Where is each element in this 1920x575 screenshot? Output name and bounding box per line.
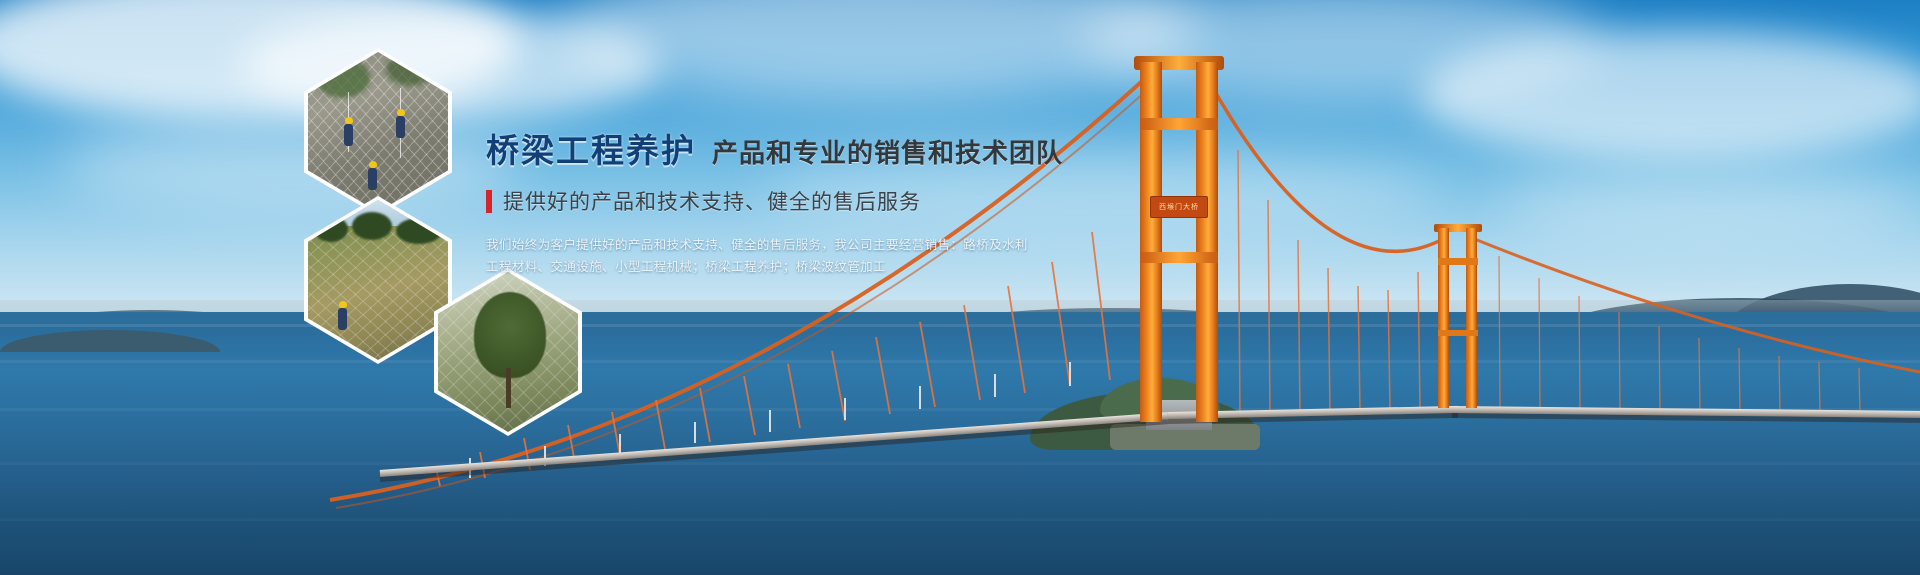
worker: [338, 308, 347, 330]
banner-body-text: 我们始终为客户提供好的产品和技术支持、健全的售后服务，我公司主要经营销售：路桥及…: [486, 234, 1086, 278]
red-accent-bar-icon: [486, 190, 492, 213]
subline-text: 提供好的产品和技术支持、健全的售后服务: [503, 186, 921, 216]
headline: 桥梁工程养护 产品和专业的销售和技术团队: [486, 124, 1126, 172]
subline: 提供好的产品和技术支持、健全的售后服务: [486, 186, 1126, 216]
bridge-cables: [0, 0, 1920, 575]
body-line-2: 工程材料、交通设施、小型工程机械；桥梁工程养护；桥梁波纹管加工: [486, 256, 1086, 278]
body-line-1: 我们始终为客户提供好的产品和技术支持、健全的售后服务，我公司主要经营销售：路桥及…: [486, 234, 1086, 256]
tower-crossbeam: [1140, 252, 1218, 263]
shrub: [474, 292, 546, 378]
tower-crossbeam: [1438, 330, 1478, 336]
suspension-bridge: 西堠门大桥: [0, 0, 1920, 575]
headline-sub: 产品和专业的销售和技术团队: [712, 133, 1063, 170]
tree: [352, 212, 392, 240]
hero-banner: 西堠门大桥: [0, 0, 1920, 575]
bridge-tower-leg: [1466, 228, 1477, 408]
bridge-tower-leg: [1438, 228, 1449, 408]
bridge-tower-leg: [1140, 62, 1162, 422]
tower-plaque: 西堠门大桥: [1150, 196, 1208, 218]
tree-trunk: [506, 368, 511, 408]
headline-main: 桥梁工程养护: [486, 124, 696, 172]
tower-crossbeam: [1438, 258, 1478, 265]
tower-crossbeam: [1140, 118, 1218, 130]
banner-text-block: 桥梁工程养护 产品和专业的销售和技术团队 提供好的产品和技术支持、健全的售后服务…: [486, 124, 1126, 278]
bridge-tower-leg: [1196, 62, 1218, 422]
worker: [344, 124, 353, 146]
tower-plaque-text: 西堠门大桥: [1151, 197, 1207, 219]
worker: [396, 116, 405, 138]
worker: [368, 168, 377, 190]
